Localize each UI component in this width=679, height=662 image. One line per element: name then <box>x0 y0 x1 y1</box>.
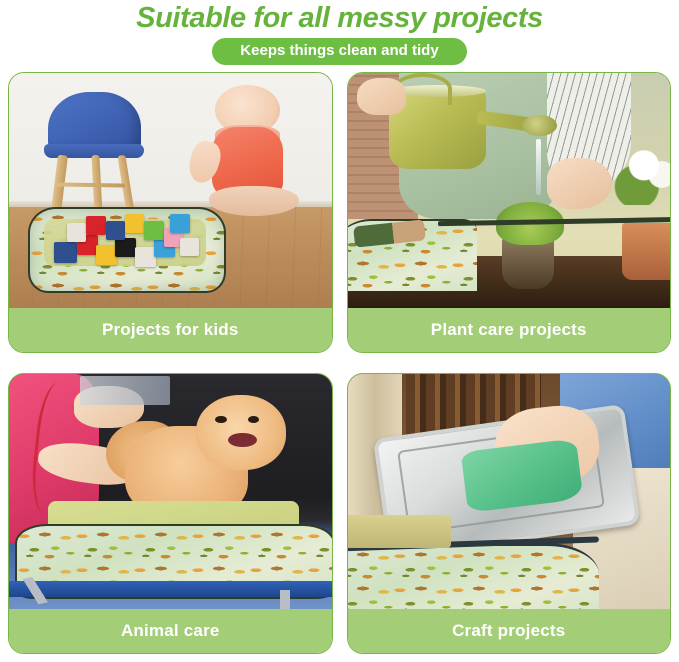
toy-block <box>170 214 189 233</box>
toy-block <box>144 221 163 240</box>
table-leg <box>280 590 290 609</box>
table-surface-left <box>348 515 451 548</box>
panel-craft-projects: Craft projects <box>347 373 672 654</box>
page-title: Suitable for all messy projects <box>0 1 679 35</box>
caption-craft-projects: Craft projects <box>348 609 671 653</box>
toy-block <box>115 238 136 258</box>
toy-block <box>180 238 199 257</box>
hand-planting <box>547 158 612 210</box>
white-flowers <box>612 144 670 205</box>
toy-block <box>106 221 125 240</box>
toy-block <box>125 214 144 233</box>
toy-block <box>135 247 156 267</box>
panel-plant-care-projects: Plant care projects <box>347 72 672 353</box>
photo-craft-projects <box>348 374 671 609</box>
panel-animal-care: Animal care <box>8 373 333 654</box>
toy-block <box>54 242 77 263</box>
toy-block <box>96 245 117 265</box>
splat-mat <box>348 543 600 609</box>
water-stream <box>536 139 541 195</box>
toy-block <box>67 223 86 242</box>
subtitle-badge: Keeps things clean and tidy <box>212 38 466 65</box>
panel-grid: Projects for kids <box>8 72 671 654</box>
subtitle-badge-wrap: Keeps things clean and tidy <box>0 38 679 65</box>
flower-pot-terracotta <box>622 223 670 279</box>
pomeranian-mouth <box>228 433 257 447</box>
caption-projects-for-kids: Projects for kids <box>9 308 332 352</box>
plant-pot <box>502 238 554 290</box>
caption-animal-care: Animal care <box>9 609 332 653</box>
toy-block <box>86 216 105 235</box>
photo-animal-care <box>9 374 332 609</box>
panel-projects-for-kids: Projects for kids <box>8 72 333 353</box>
photo-plant-care-projects <box>348 73 671 308</box>
background-shelf <box>80 376 170 404</box>
hand-holding-can <box>357 78 405 116</box>
caption-plant-care-projects: Plant care projects <box>348 308 671 352</box>
header: Suitable for all messy projects Keeps th… <box>0 0 679 65</box>
photo-projects-for-kids <box>9 73 332 308</box>
infographic-page: Suitable for all messy projects Keeps th… <box>0 0 679 662</box>
